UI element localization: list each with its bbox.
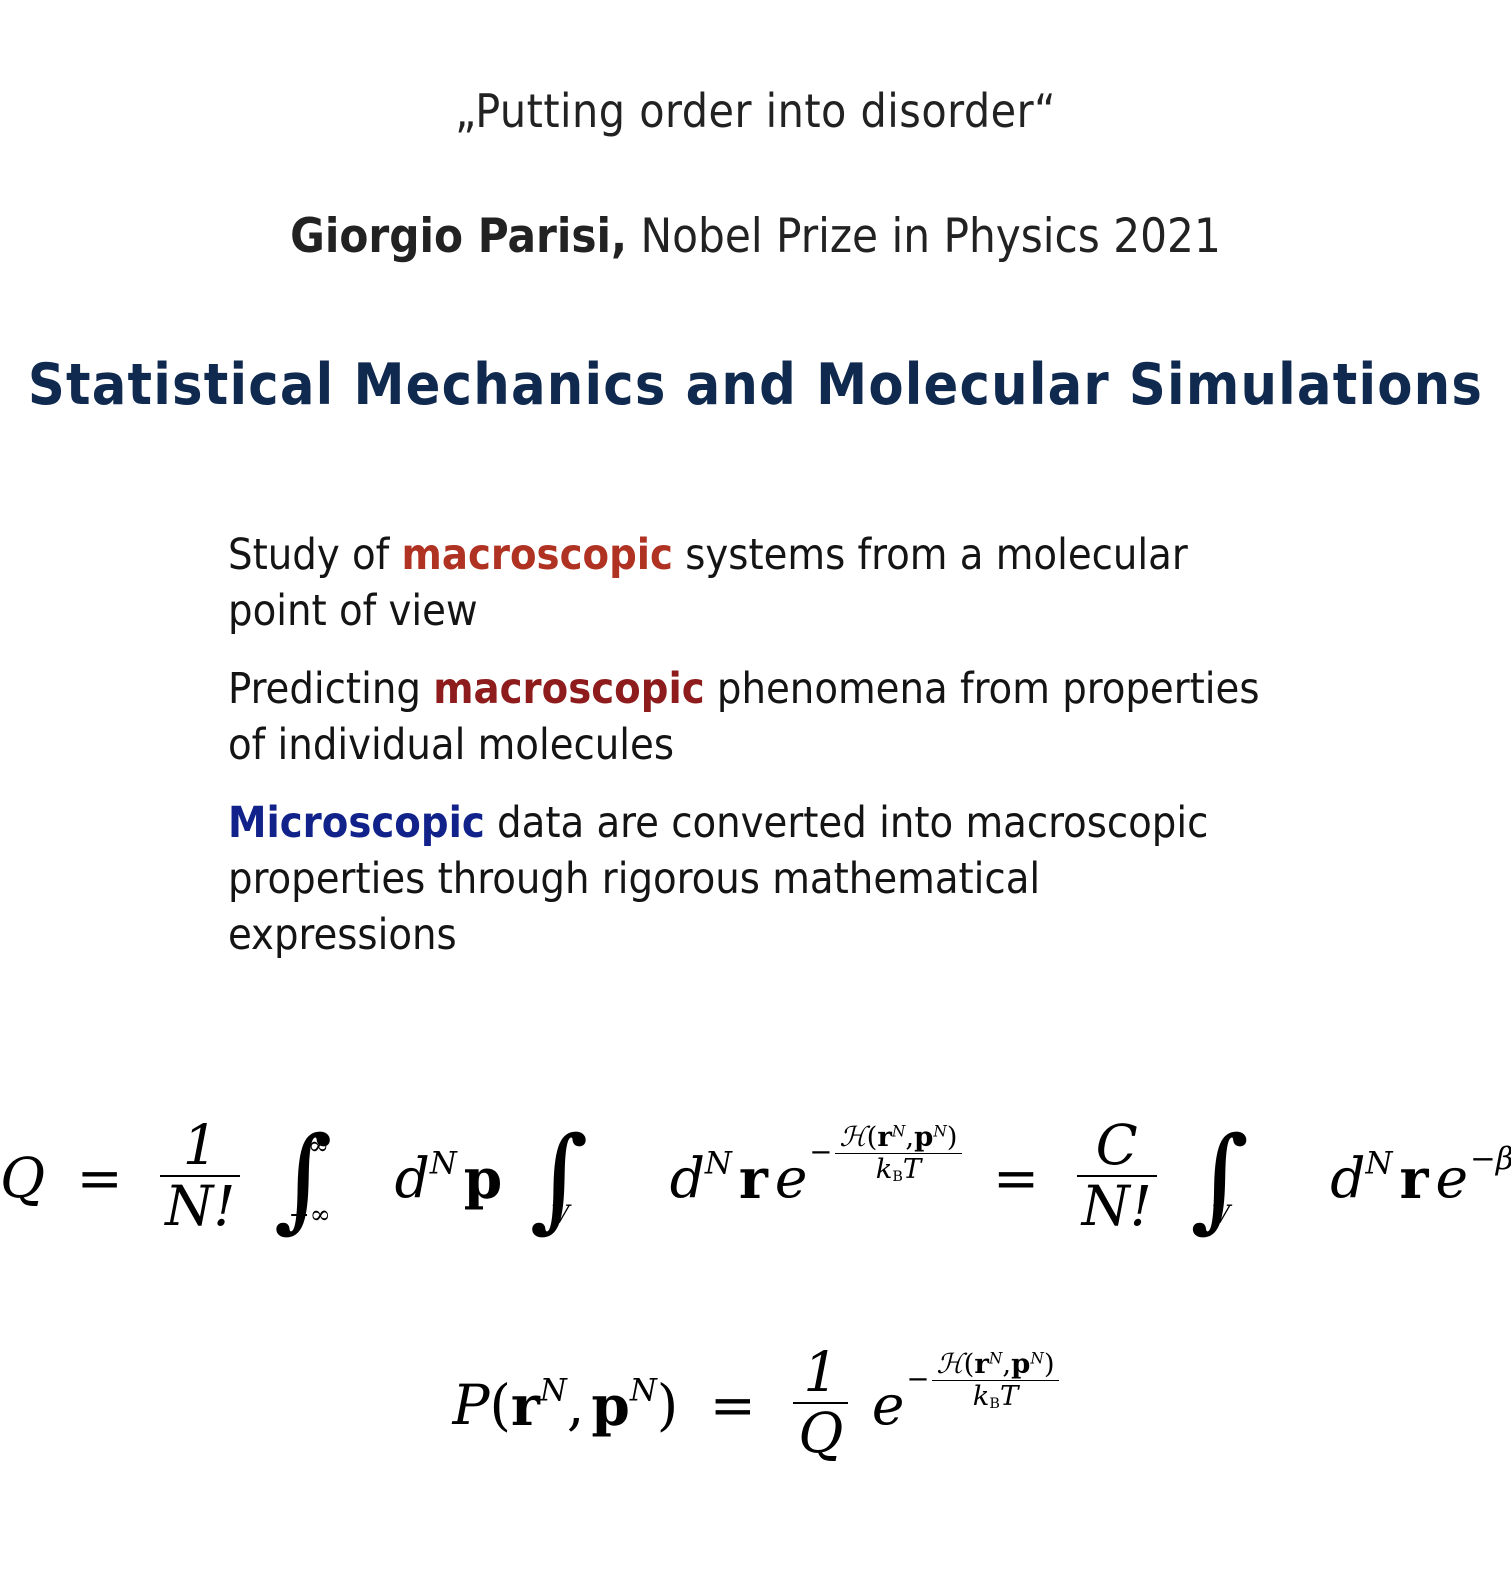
list-item: Study of macroscopic systems from a mole… — [228, 527, 1213, 639]
exponent-boltzmann-factor: −ℋ(rN,pN)kBT — [906, 1349, 1058, 1412]
differential-d: d — [670, 1146, 705, 1210]
bullet-text-part: Study of — [228, 530, 402, 580]
vector-r: r — [1399, 1146, 1428, 1211]
slide-quote: „Putting order into disorder“ — [0, 84, 1511, 138]
bullet-list: Study of macroscopic systems from a mole… — [228, 527, 1348, 985]
fraction-hamiltonian-over-kbt: ℋ(rN,pN)kBT — [835, 1122, 961, 1185]
denominator-kbt: kBT — [932, 1380, 1058, 1412]
equation-partition-function: Q = 1 N! ∫ ∞ −∞ dNp ∫ V dNre−ℋ(rN,pN)kBT… — [0, 1118, 1511, 1239]
integral-lower-limit-V: V — [1212, 1200, 1230, 1229]
equals-sign: = — [77, 1146, 123, 1210]
exponent-beta-potential: −βU(rN) — [1470, 1141, 1511, 1177]
equation-probability-density: P(rN,pN) = 1 Q e−ℋ(rN,pN)kBT — [0, 1345, 1511, 1466]
integral-momentum: ∫ ∞ −∞ — [274, 1151, 343, 1206]
page-title: Statistical Mechanics and Molecular Simu… — [0, 352, 1511, 418]
numerator: 1 — [793, 1343, 848, 1402]
equals-sign: = — [710, 1373, 756, 1437]
exponent-N: N — [540, 1372, 567, 1408]
denominator-script-Q: Q — [793, 1402, 848, 1463]
vector-r: r — [511, 1373, 540, 1438]
vector-r: r — [739, 1146, 768, 1211]
euler-e: e — [775, 1146, 808, 1210]
comma: , — [567, 1373, 584, 1437]
open-paren: ( — [489, 1373, 510, 1437]
list-item: Predicting macroscopic phenomena from pr… — [228, 661, 1293, 773]
bullet-highlight-macroscopic: macroscopic — [433, 664, 704, 714]
symbol-script-Q: Q — [0, 1146, 45, 1210]
author-name: Giorgio Parisi, — [290, 209, 627, 264]
vector-p: p — [591, 1373, 629, 1438]
bullet-highlight-macroscopic: macroscopic — [402, 530, 673, 580]
fraction-C-over-n-factorial: C N! — [1077, 1116, 1157, 1237]
exponent-N: N — [705, 1145, 732, 1181]
vector-p: p — [464, 1146, 502, 1211]
minus-sign: − — [809, 1136, 832, 1168]
author-line: Giorgio Parisi, Nobel Prize in Physics 2… — [0, 209, 1511, 264]
numerator-hamiltonian: ℋ(rN,pN) — [835, 1122, 961, 1153]
differential-d: d — [1330, 1146, 1365, 1210]
integral-upper-limit: ∞ — [308, 1131, 329, 1160]
denominator: N! — [160, 1175, 240, 1236]
minus-sign: − — [906, 1363, 929, 1395]
author-credential: Nobel Prize in Physics 2021 — [627, 209, 1221, 264]
fraction-one-over-Q: 1 Q — [793, 1343, 848, 1464]
denominator-kbt: kBT — [835, 1153, 961, 1185]
list-item: Microscopic data are converted into macr… — [228, 795, 1228, 963]
integral-volume-2: ∫ V — [1190, 1151, 1278, 1206]
bullet-text-part: Predicting — [228, 664, 433, 714]
integral-lower-limit: −∞ — [289, 1200, 331, 1229]
numerator: 1 — [160, 1116, 240, 1175]
exponent-N: N — [630, 1372, 657, 1408]
euler-e: e — [1435, 1146, 1468, 1210]
exponent-boltzmann-factor: −ℋ(rN,pN)kBT — [809, 1122, 961, 1185]
euler-e: e — [872, 1373, 905, 1437]
exponent-N: N — [430, 1145, 457, 1181]
numerator-C: C — [1077, 1116, 1157, 1175]
exponent-N: N — [1366, 1145, 1393, 1181]
denominator: N! — [1077, 1175, 1157, 1236]
bullet-highlight-microscopic: Microscopic — [228, 798, 485, 848]
equals-sign-2: = — [993, 1146, 1039, 1210]
numerator-hamiltonian: ℋ(rN,pN) — [932, 1349, 1058, 1380]
symbol-script-P: P — [452, 1373, 489, 1437]
close-paren: ) — [657, 1373, 678, 1437]
quote-text: „Putting order into disorder“ — [455, 84, 1056, 138]
fraction-hamiltonian-over-kbt: ℋ(rN,pN)kBT — [932, 1349, 1058, 1412]
integral-lower-limit-V: V — [551, 1200, 569, 1229]
differential-d: d — [395, 1146, 430, 1210]
integral-volume-1: ∫ V — [530, 1151, 618, 1206]
fraction-one-over-n-factorial: 1 N! — [160, 1116, 240, 1237]
